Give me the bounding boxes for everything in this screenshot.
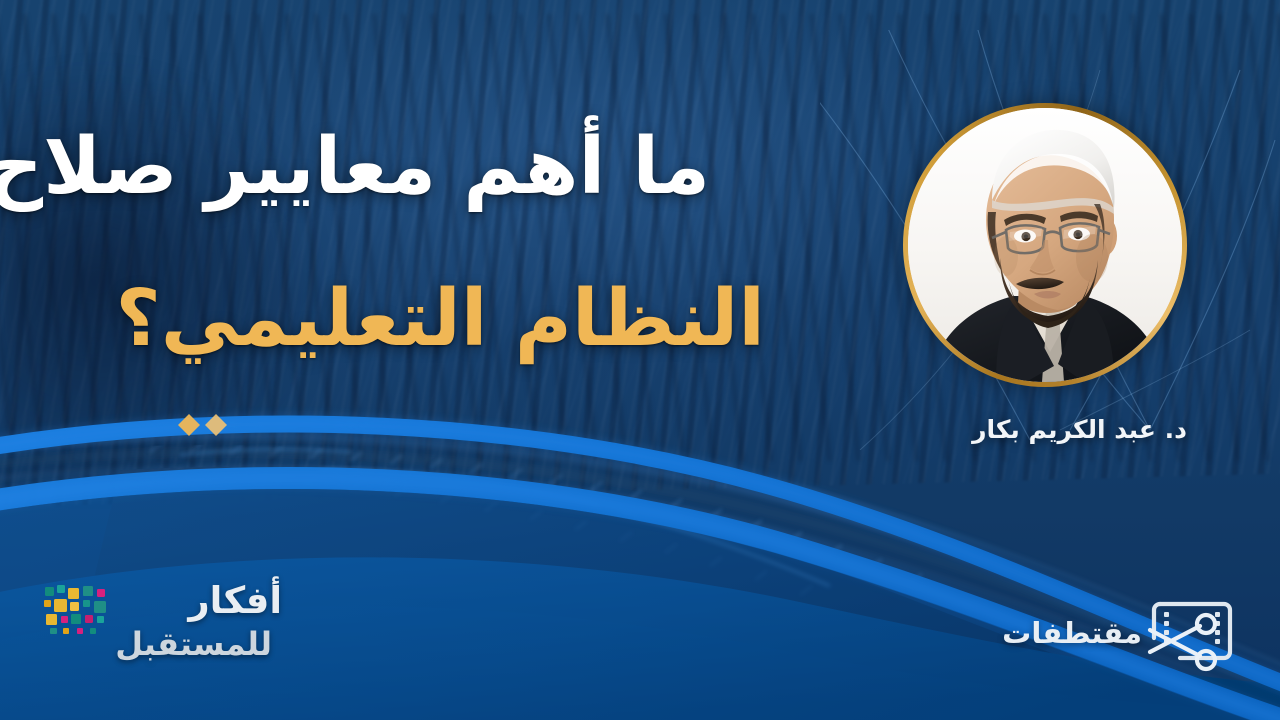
thumbnail-canvas: ما أهم معايير صلاح النظام التعليمي؟ د. ع… (0, 0, 1280, 720)
film-scissors-icon (1146, 594, 1238, 674)
title-line-1: ما أهم معايير صلاح (0, 128, 710, 208)
speaker-portrait (903, 103, 1187, 387)
scissors-icon (1150, 615, 1215, 669)
brand-row: أفكار (42, 583, 282, 631)
avatar-portrait-icon (908, 108, 1182, 382)
brand-logo-left[interactable]: أفكار للمستقبل (42, 583, 282, 678)
brand-word-afkar: أفكار (188, 579, 282, 622)
brand-logo-right[interactable]: مقتطفات (1010, 600, 1230, 678)
speaker-name: د. عبد الكريم بكار (972, 415, 1187, 444)
clips-label: مقتطفات (1002, 616, 1142, 650)
brand-word-lilmustaqbal: للمستقبل (115, 625, 272, 663)
title-line-2: النظام التعليمي؟ (116, 280, 765, 360)
portrait-photo-clip (908, 108, 1182, 382)
